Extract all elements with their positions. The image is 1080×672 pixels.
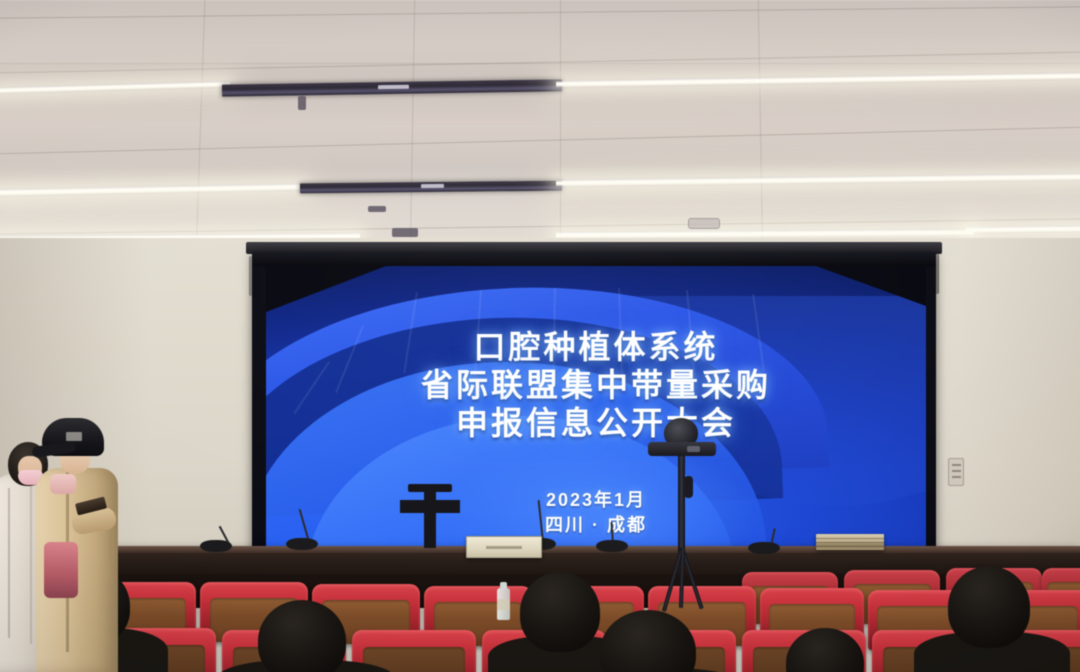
screen-corner-bevel-left [266,266,386,312]
screen-title-line-1: 口腔种植体系统 [266,328,926,366]
stage-nameplate [466,536,542,558]
wall-shading-right [960,238,1080,598]
ceiling-seam [0,127,1080,154]
table-microphone [748,528,788,552]
audience-head [520,572,600,652]
audience-head [258,600,346,672]
screen-frame: 口腔种植体系统 省际联盟集中带量采购 申报信息公开大会 2023年1月 四川 ·… [252,252,936,558]
ceiling-fixture-nub [392,228,418,237]
screen-top-bar [252,252,936,266]
projection-screen: 口腔种植体系统 省际联盟集中带量采购 申报信息公开大会 2023年1月 四川 ·… [252,252,936,558]
ceiling-light-housing [300,181,562,194]
table-microphone [286,508,330,550]
ceiling-vent [688,218,720,229]
ceiling [0,0,1080,252]
ceiling-light-strip [0,81,230,95]
ceiling-light-housing [222,79,562,96]
bottle-cap [500,582,507,589]
ceiling-fixture-nub [368,206,386,212]
auditorium-photo: 口腔种植体系统 省际联盟集中带量采购 申报信息公开大会 2023年1月 四川 ·… [0,0,1080,672]
wall-outlet [948,458,964,486]
ceiling-seam [560,0,561,252]
attendee-tan-jacket [26,418,118,672]
cap-logo [66,432,82,441]
ceiling-fixture-nub [298,96,306,110]
table-microphone [200,524,240,550]
bottle-label [497,599,510,610]
screen-subtitle-date: 2023年1月 [266,488,926,513]
audience-head [948,566,1030,648]
tripod-leg [679,548,685,608]
camera-tripod [640,418,724,608]
water-bottle [497,588,510,620]
screen-corner-bevel-right [816,266,926,306]
document-stack [816,534,884,550]
screen-canvas: 口腔种植体系统 省际联盟集中带量采购 申报信息公开大会 2023年1月 四川 ·… [266,266,926,552]
table-microphone [596,522,636,550]
ceiling-light-strip [0,183,305,197]
screen-title-block: 口腔种植体系统 省际联盟集中带量采购 申报信息公开大会 [266,328,926,442]
tripod-column [678,456,685,554]
ceiling-light-strip [966,225,1080,233]
ceiling-light-strip [556,72,1080,88]
tripod-pan-handle [684,476,693,498]
screen-title-line-2: 省际联盟集中带量采购 [266,366,926,404]
shoulder-bag [44,542,78,598]
pink-scarf [50,474,76,494]
video-camera [648,442,716,456]
ceiling-light-strip [556,173,1080,188]
screen-title-line-3: 申报信息公开大会 [266,404,926,442]
